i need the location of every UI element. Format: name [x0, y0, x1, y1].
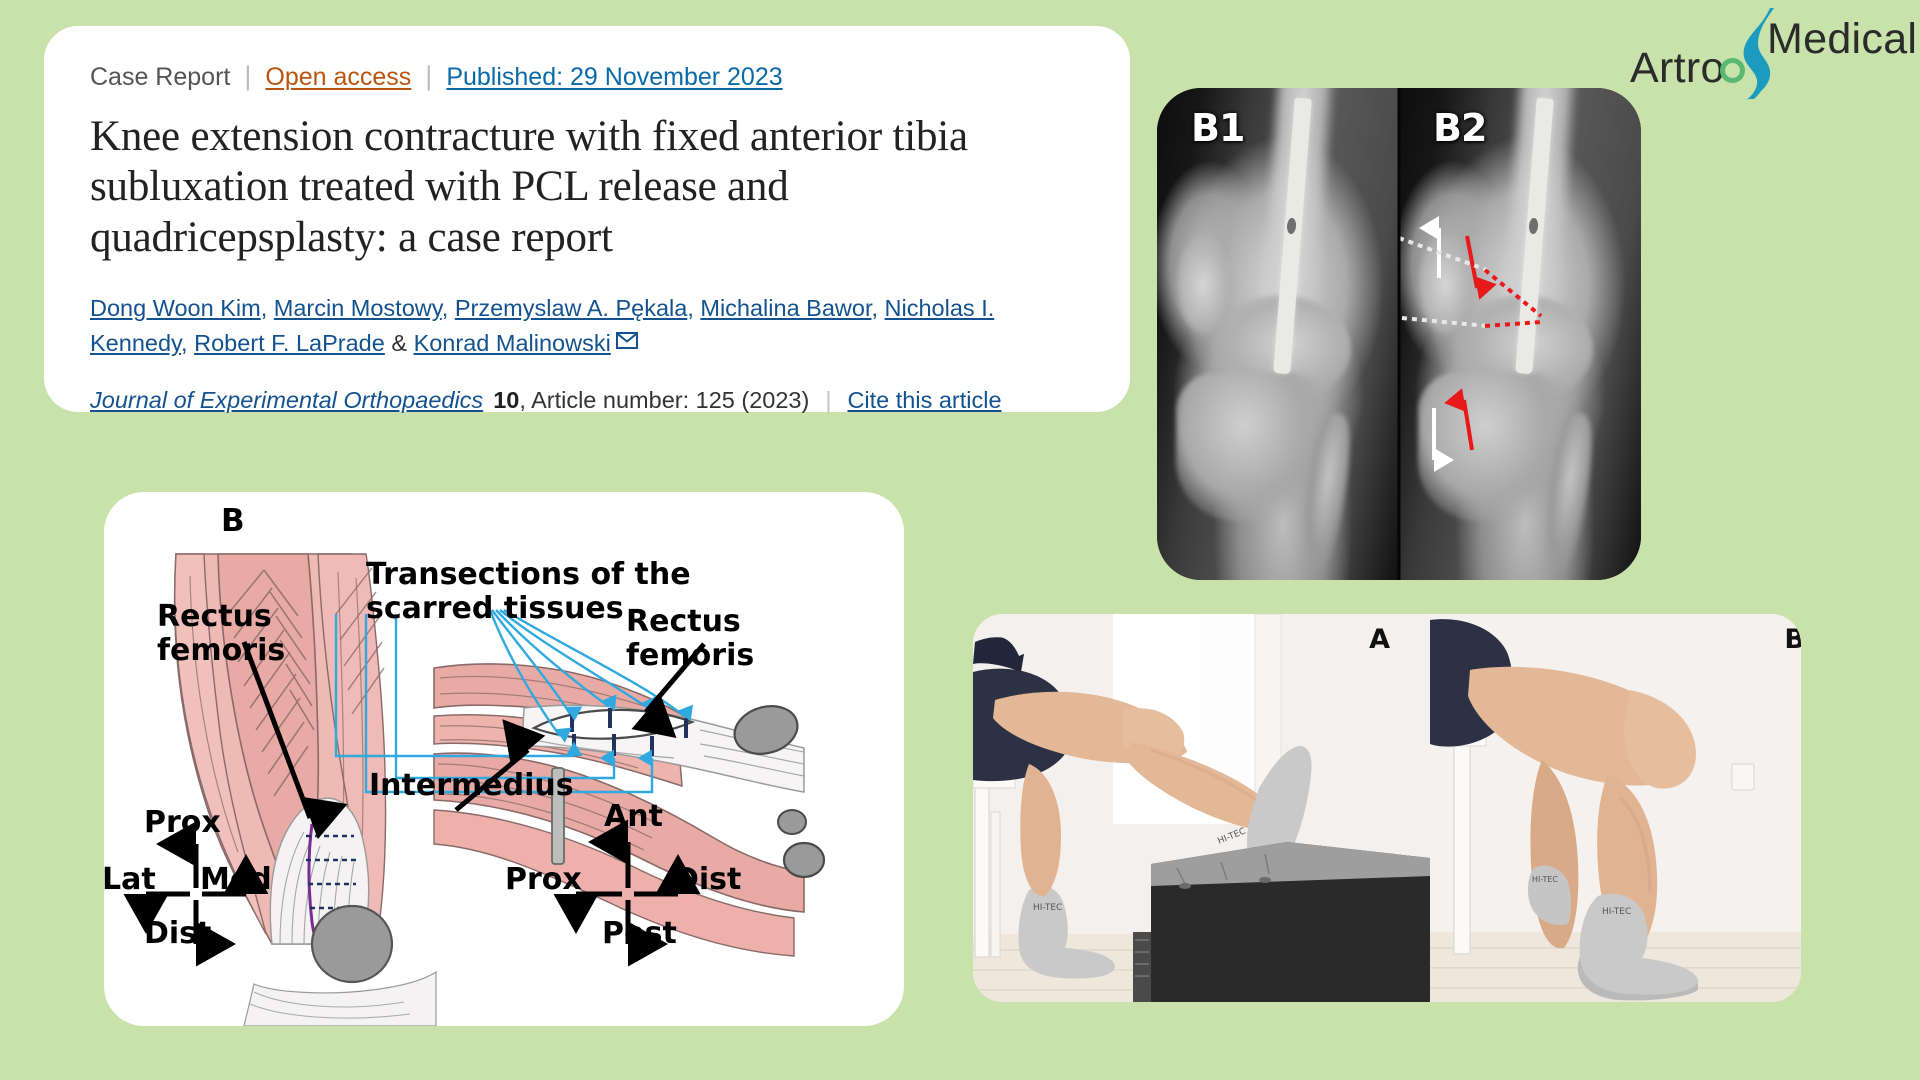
clinical-photos-card: HI-TEC HI-TEC A	[973, 614, 1801, 1002]
page-title: Knee extension contracture with fixed an…	[90, 112, 1086, 264]
meta-divider: |	[425, 62, 432, 92]
author-link-3[interactable]: Michalina Bawor	[700, 295, 871, 321]
cite-this-article-link[interactable]: Cite this article	[847, 387, 1001, 414]
radiograph-label-b1: B1	[1191, 106, 1244, 150]
quadricepsplasty-diagram-card: B Rectus femoris Transections of the sca…	[104, 492, 904, 1026]
article-header-card: Case Report | Open access | Published: 2…	[44, 26, 1130, 412]
author-joiner: &	[385, 330, 414, 356]
white-dotted-line-lower	[1402, 318, 1487, 326]
compass-left-up-label: Prox	[144, 806, 221, 840]
svg-text:HI-TEC: HI-TEC	[1602, 907, 1631, 917]
radiograph-comparison-card: B1	[1157, 88, 1641, 580]
compass-left-right-label: Med	[200, 863, 272, 897]
label-transections-line1: Transections of the	[366, 558, 691, 592]
tubercle-oval-small	[778, 810, 806, 834]
red-dotted-line-upper	[1485, 270, 1541, 316]
svg-text:HI-TEC: HI-TEC	[1532, 875, 1558, 884]
label-rectus-femoris-right-line2: femoris	[626, 639, 754, 673]
article-meta-row: Case Report | Open access | Published: 2…	[90, 62, 1086, 92]
journal-citation-row: Journal of Experimental Orthopaedics 10 …	[90, 387, 1086, 414]
logo-text-medical: Medical	[1767, 15, 1917, 64]
envelope-icon[interactable]	[616, 325, 638, 358]
author-sep: ,	[442, 295, 455, 321]
author-link-1[interactable]: Marcin Mostowy	[274, 295, 442, 321]
patella-shape	[312, 906, 392, 982]
author-sep: ,	[181, 330, 194, 356]
label-rectus-femoris-left-line1: Rectus	[157, 600, 285, 634]
label-rectus-femoris-right: Rectus femoris	[626, 605, 754, 672]
diagram-panel-letter: B	[221, 504, 245, 539]
red-up-arrow	[1464, 400, 1472, 450]
author-link-6[interactable]: Konrad Malinowski	[414, 330, 611, 356]
red-dotted-line-lower	[1485, 322, 1541, 326]
compass-right-up-label: Ant	[604, 800, 663, 834]
author-sep: ,	[261, 295, 274, 321]
compass-right-down-label: Post	[602, 917, 677, 951]
journal-volume: 10	[493, 387, 519, 414]
label-rectus-femoris-left: Rectus femoris	[157, 600, 285, 667]
photo-a-image: HI-TEC HI-TEC	[973, 614, 1430, 1002]
meta-divider: |	[244, 62, 251, 92]
photo-label-a: A	[1369, 624, 1390, 655]
author-link-0[interactable]: Dong Woon Kim	[90, 295, 261, 321]
author-link-2[interactable]: Przemyslaw A. Pękala	[455, 295, 687, 321]
tubercle-oval	[784, 843, 824, 877]
article-type-label: Case Report	[90, 64, 230, 92]
clinical-photo-b: HI-TEC HI-TEC B	[1430, 614, 1801, 1002]
clinical-photo-a: HI-TEC HI-TEC A	[973, 614, 1430, 1002]
compass-left-left-label: Lat	[104, 863, 156, 897]
author-sep: ,	[871, 295, 884, 321]
journal-article-info: , Article number: 125 (2023)	[519, 387, 809, 414]
compass-right-right-label: Dist	[674, 863, 741, 897]
label-intermedius: Intermedius	[369, 769, 574, 803]
radiograph-divider	[1398, 88, 1401, 580]
compass-right-left-label: Prox	[505, 863, 582, 897]
photo-label-b: B	[1784, 624, 1801, 655]
author-link-5[interactable]: Robert F. LaPrade	[194, 330, 385, 356]
photo-b-image: HI-TEC HI-TEC	[1430, 614, 1801, 1002]
artro-medical-logo: Artro Medical	[1626, 8, 1898, 100]
label-rectus-femoris-right-line1: Rectus	[626, 605, 754, 639]
journal-name-link[interactable]: Journal of Experimental Orthopaedics	[90, 387, 483, 414]
svg-text:HI-TEC: HI-TEC	[1033, 903, 1062, 913]
compass-left-down-label: Dist	[144, 917, 211, 951]
citation-divider: |	[825, 387, 831, 414]
open-access-link[interactable]: Open access	[265, 64, 411, 92]
author-list: Dong Woon Kim, Marcin Mostowy, Przemysla…	[90, 292, 1086, 361]
label-rectus-femoris-left-line2: femoris	[157, 634, 285, 668]
radiograph-annotations	[1399, 88, 1641, 580]
author-sep: ,	[687, 295, 700, 321]
tibia-shadow	[1176, 373, 1326, 521]
logo-text-artro: Artro	[1630, 44, 1725, 93]
radiograph-panel-b1: B1	[1157, 88, 1399, 580]
radiograph-panel-b2: B2	[1399, 88, 1641, 580]
published-date-link[interactable]: Published: 29 November 2023	[446, 64, 782, 92]
